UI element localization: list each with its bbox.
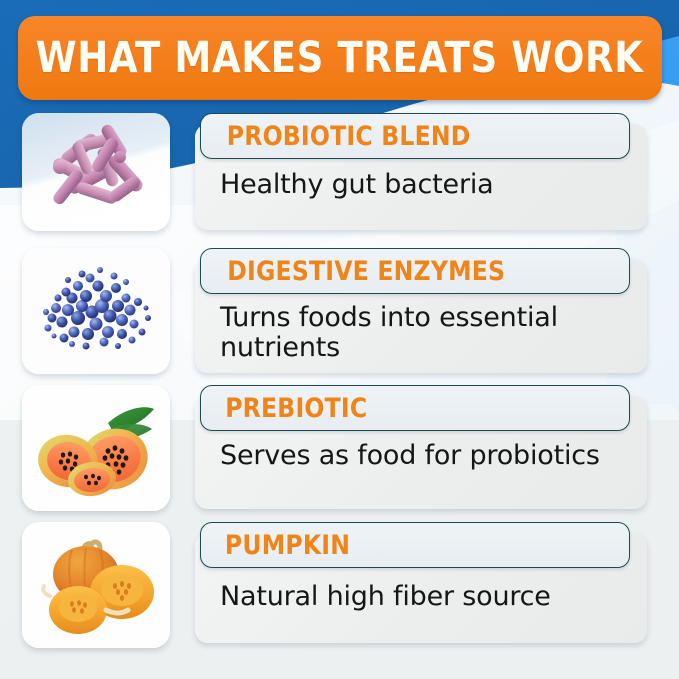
papaya-fruit-image bbox=[22, 385, 170, 511]
feature-heading-pill: PREBIOTIC bbox=[200, 385, 630, 431]
title-banner: WHAT MAKES TREATS WORK bbox=[18, 16, 662, 100]
infographic-canvas: WHAT MAKES TREATS WORK bbox=[0, 0, 679, 679]
pumpkin-image bbox=[22, 522, 170, 648]
feature-heading-pill: DIGESTIVE ENZYMES bbox=[200, 248, 630, 294]
feature-heading-pill: PROBIOTIC BLEND bbox=[200, 113, 630, 159]
feature-heading: PUMPKIN bbox=[225, 530, 350, 561]
feature-row: DIGESTIVE ENZYMES Turns foods into essen… bbox=[0, 248, 679, 381]
probiotic-bacteria-image bbox=[22, 113, 170, 231]
feature-description: Turns foods into essential nutrients bbox=[220, 303, 640, 363]
feature-row: PROBIOTIC BLEND Healthy gut bacteria bbox=[0, 113, 679, 238]
feature-heading-pill: PUMPKIN bbox=[200, 522, 630, 568]
feature-heading: PREBIOTIC bbox=[225, 393, 367, 424]
feature-description: Healthy gut bacteria bbox=[220, 170, 640, 200]
page-title: WHAT MAKES TREATS WORK bbox=[36, 33, 644, 83]
feature-row: PREBIOTIC Serves as food for probiotics bbox=[0, 385, 679, 517]
digestive-enzyme-molecule-image bbox=[22, 248, 170, 374]
feature-description: Serves as food for probiotics bbox=[220, 441, 640, 471]
feature-heading: DIGESTIVE ENZYMES bbox=[227, 256, 505, 287]
feature-row: PUMPKIN Natural high fiber source bbox=[0, 522, 679, 657]
feature-description: Natural high fiber source bbox=[220, 582, 640, 612]
feature-heading: PROBIOTIC BLEND bbox=[227, 121, 471, 152]
